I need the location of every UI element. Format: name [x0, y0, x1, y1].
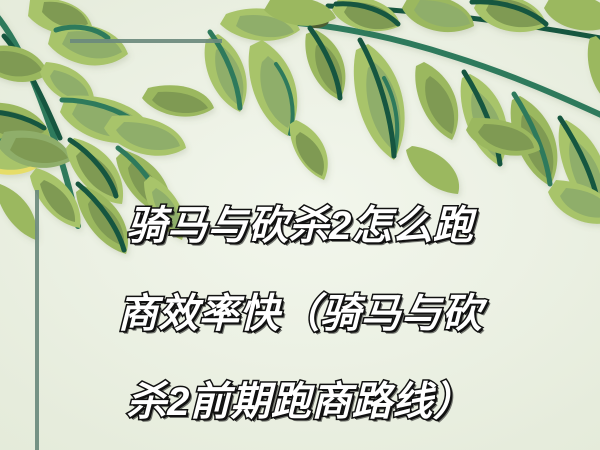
page-title-line-1: 骑马与砍杀2怎么跑 [0, 204, 600, 248]
horizontal-rule [70, 39, 222, 43]
page-title-line-2: 商效率快（骑马与砍 [0, 292, 600, 336]
page-title-line-3: 杀2前期跑商路线） [0, 380, 600, 424]
poster-canvas: 骑马与砍杀2怎么跑 商效率快（骑马与砍 杀2前期跑商路线） [0, 0, 600, 450]
page-title: 骑马与砍杀2怎么跑 商效率快（骑马与砍 杀2前期跑商路线） [0, 160, 600, 450]
